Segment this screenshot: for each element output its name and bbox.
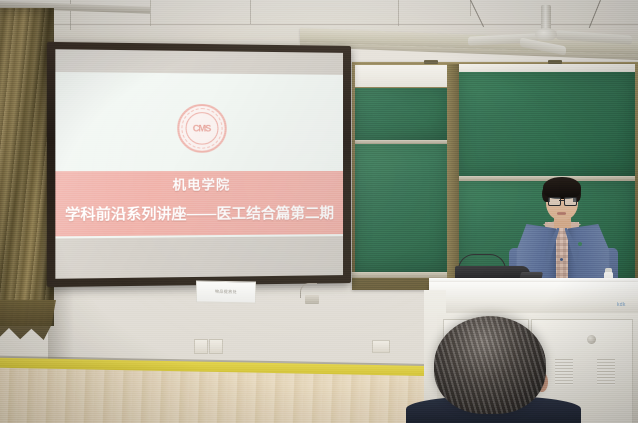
- slide-series-title: 学科前沿系列讲座——医工结合篇第二期: [55, 202, 343, 225]
- slide-top-band: [55, 49, 343, 75]
- presentation-slide: CMS 机电学院 学科前沿系列讲座——医工结合篇第二期 2021年4月19日: [55, 72, 343, 254]
- chalkboard-panel: [459, 72, 635, 176]
- floor: [0, 368, 460, 423]
- wall-sign: 物品提放处: [196, 280, 256, 303]
- vent-grille: [597, 359, 615, 385]
- slide-bottom-band: [55, 236, 343, 279]
- audience-head: [434, 316, 546, 414]
- wall-outlet: [209, 339, 223, 354]
- projection-screen: CMS 机电学院 学科前沿系列讲座——医工结合篇第二期 2021年4月19日: [47, 42, 351, 287]
- chalkboard-hook: [424, 60, 438, 64]
- wall-mounted-box: [305, 295, 319, 304]
- lecture-hall-photo: CMS 机电学院 学科前沿系列讲座——医工结合篇第二期 2021年4月19日 物…: [0, 0, 638, 423]
- lapel-pin-icon: [578, 242, 582, 246]
- university-logo-icon: CMS: [177, 104, 226, 153]
- wall-sign-text: 物品提放处: [215, 289, 237, 295]
- chalkboard-hook: [548, 60, 562, 64]
- slide-organization: 机电学院: [55, 174, 343, 194]
- fan-hub: [535, 28, 557, 41]
- projection-surface: CMS 机电学院 学科前沿系列讲座——医工结合篇第二期 2021年4月19日: [55, 49, 343, 279]
- wall-outlet: [194, 339, 208, 354]
- chalkboard-header-white: [355, 65, 447, 87]
- speaker-hair: [543, 177, 581, 199]
- eyeglasses-icon: [548, 197, 576, 204]
- chalkboard-panel: [355, 144, 447, 272]
- cabinet-lock-icon[interactable]: [587, 335, 596, 344]
- chalkboard-panel: [355, 88, 447, 140]
- speaker-mouth: [557, 212, 566, 215]
- podium-brand-mark: kdk: [617, 302, 626, 308]
- podium-surface: [429, 282, 638, 313]
- wall-outlet: [372, 340, 390, 353]
- chalkboard-divider: [447, 64, 459, 282]
- vent-grille: [555, 359, 573, 385]
